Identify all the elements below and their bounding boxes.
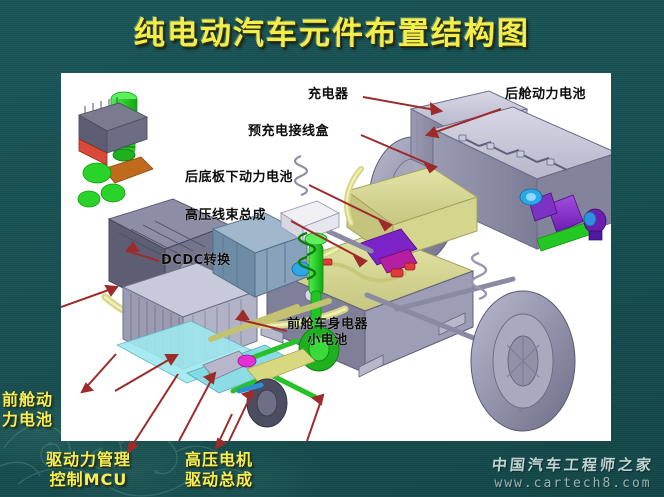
callout-precharge-box: 预充电接线盒 bbox=[248, 124, 329, 140]
callout-front-body-batt: 前舱车身电器 小电池 bbox=[287, 317, 368, 349]
svg-text:✕: ✕ bbox=[516, 406, 524, 416]
watermark: 中国汽车工程师之家 www.cartech8.com bbox=[492, 454, 654, 491]
watermark-site-name: 中国汽车工程师之家 bbox=[491, 454, 655, 475]
watermark-url: www.cartech8.com bbox=[492, 476, 654, 491]
outer-label-mcu-control: 驱动力管理 控制MCU bbox=[46, 450, 131, 490]
callout-charger: 充电器 bbox=[308, 87, 349, 103]
slide-root: 纯电动汽车元件布置结构图 bbox=[0, 0, 664, 497]
outer-label-hv-motor-drive: 高压电机 驱动总成 bbox=[185, 450, 253, 490]
diagram-panel: ✕ bbox=[61, 73, 611, 441]
callout-rear-cabin-pack: 后舱动力电池 bbox=[505, 87, 586, 103]
callout-rear-floor-pack: 后底板下动力电池 bbox=[185, 170, 293, 186]
front-wheel-near: ✕ bbox=[471, 291, 575, 431]
callout-dcdc-converter: DCDC转换 bbox=[161, 253, 231, 269]
outer-label-front-cabin-pack: 前舱动力电池 bbox=[2, 390, 58, 430]
page-title: 纯电动汽车元件布置结构图 bbox=[0, 8, 664, 53]
ev-chassis-illustration: ✕ bbox=[61, 73, 611, 441]
callout-hv-harness: 高压线束总成 bbox=[185, 208, 266, 224]
